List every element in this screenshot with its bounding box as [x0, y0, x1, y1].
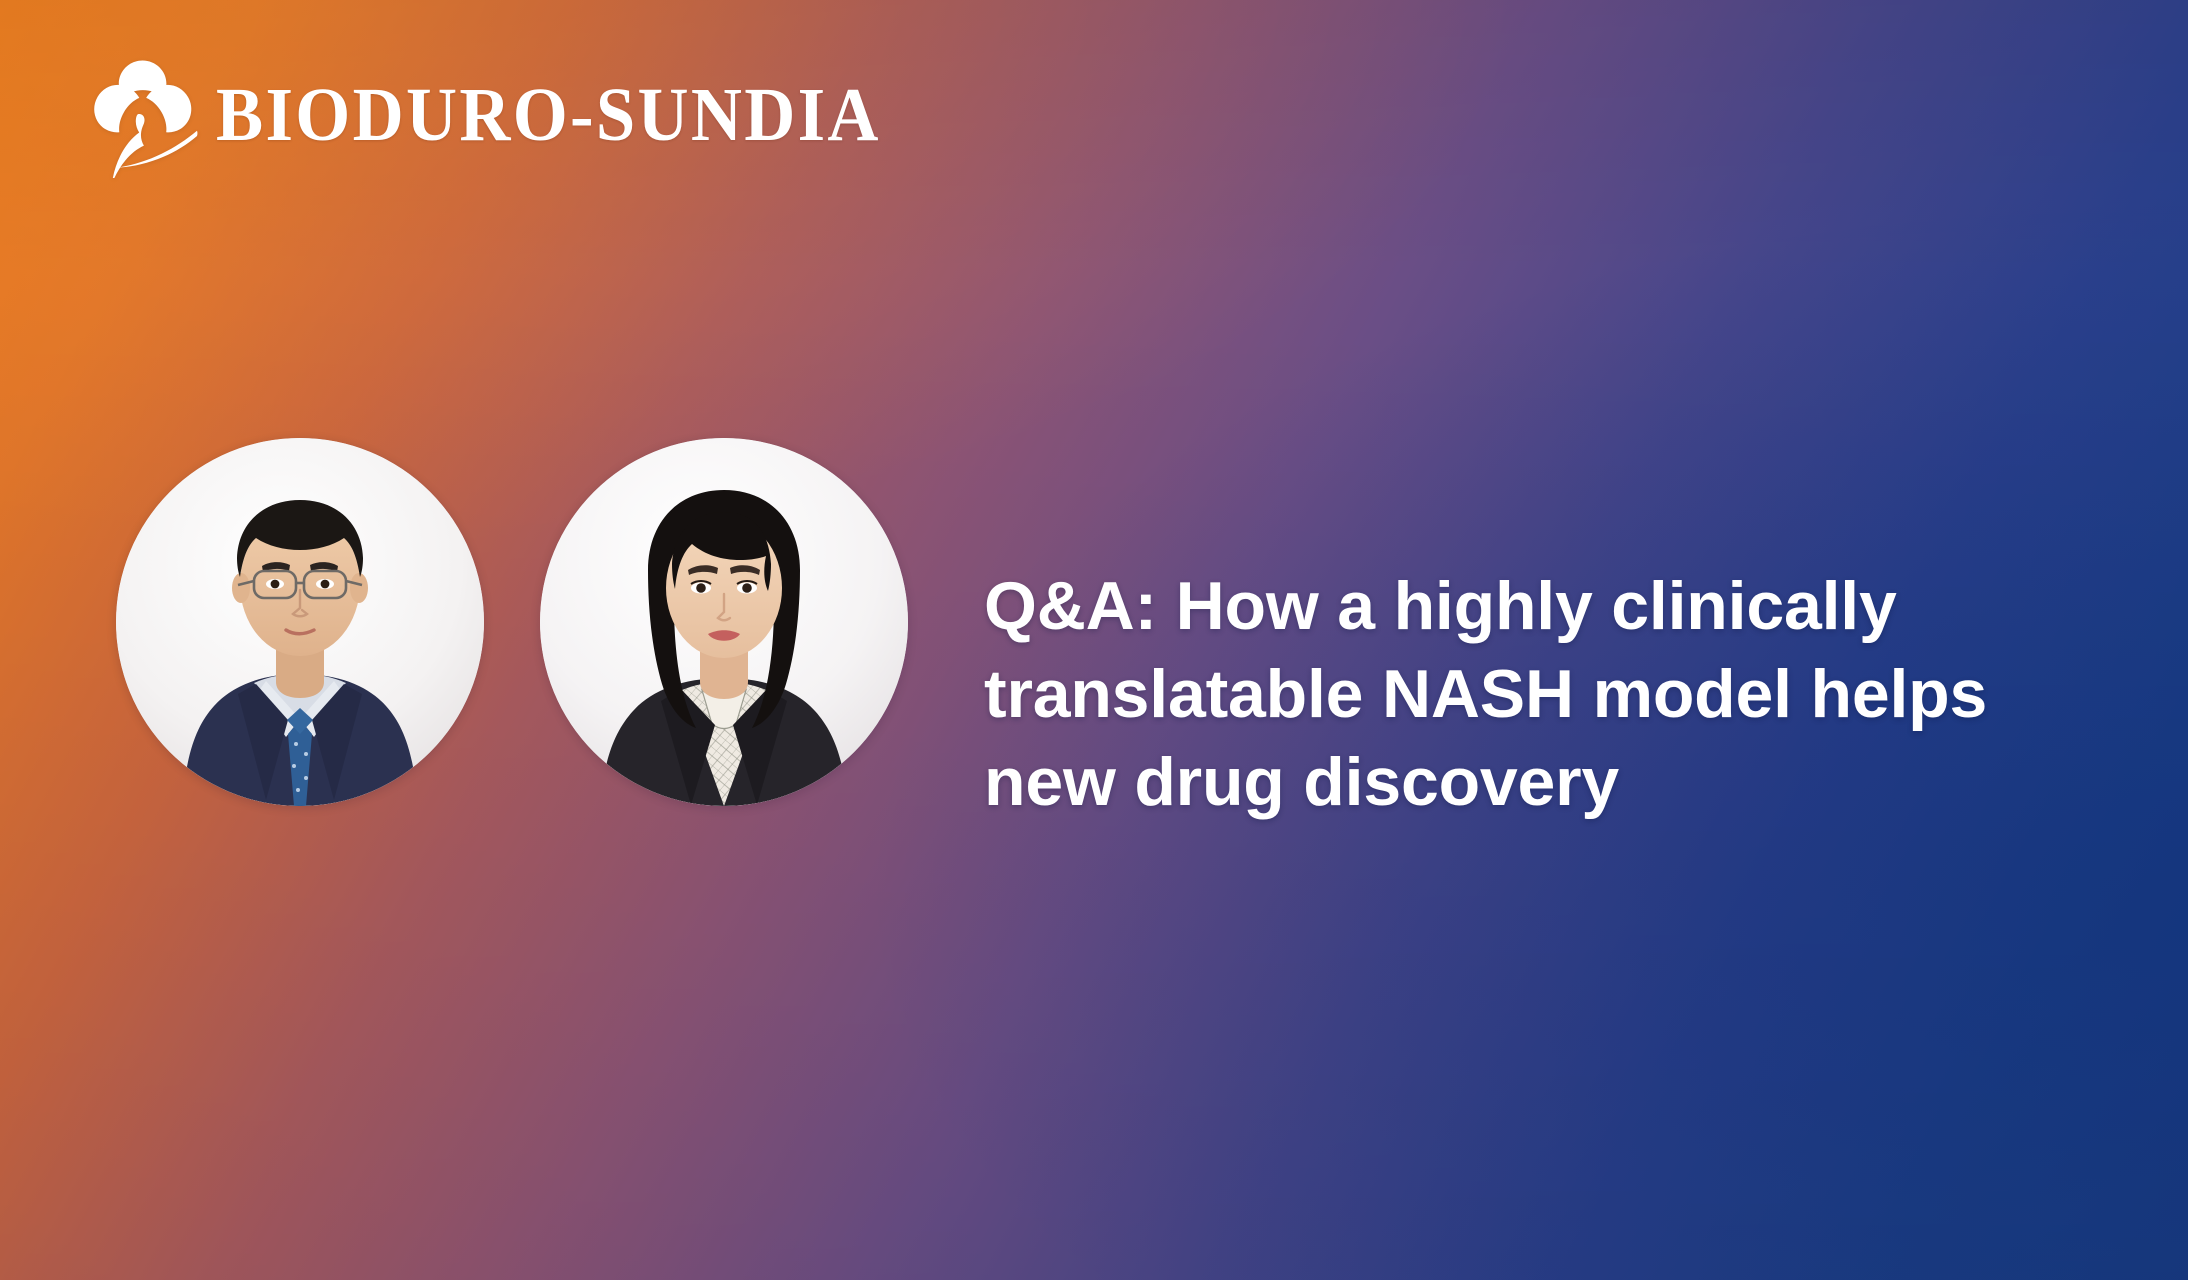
bioduro-sundia-tree-logo-icon	[84, 52, 202, 178]
webinar-promo-banner: BIODURO-SUNDIA	[0, 0, 2188, 1280]
speaker-portrait-group	[116, 438, 908, 806]
brand-logo-lockup[interactable]: BIODURO-SUNDIA	[84, 52, 931, 178]
brand-wordmark: BIODURO-SUNDIA	[216, 77, 881, 153]
banner-headline: Q&A: How a highly clinically translatabl…	[984, 562, 2094, 827]
speaker-one-avatar	[116, 438, 484, 806]
speaker-two-avatar	[540, 438, 908, 806]
speaker-two-photo	[540, 438, 908, 806]
speaker-one-photo	[116, 438, 484, 806]
